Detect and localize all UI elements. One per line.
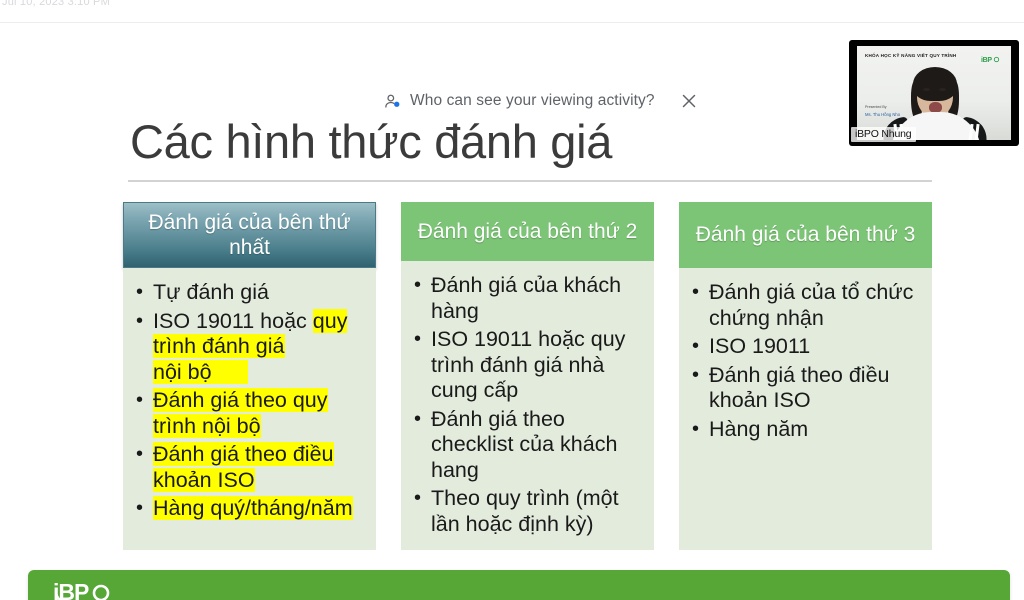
person-add-icon bbox=[384, 93, 401, 110]
viewing-activity-label: Who can see your viewing activity? bbox=[410, 92, 655, 110]
bullet-text: Đánh giá của khách hàng bbox=[431, 273, 621, 323]
presenter-hair bbox=[913, 67, 957, 101]
column-body-second-party: Đánh giá của khách hàng ISO 19011 hoặc q… bbox=[401, 261, 654, 550]
bullet-text: Tự đánh giá bbox=[153, 280, 269, 304]
bullet-text-highlight: Hàng quý/tháng/năm bbox=[153, 496, 353, 520]
video-frame: KHÓA HỌC KỸ NĂNG VIẾT QUY TRÌNH iBP Pres… bbox=[857, 46, 1011, 140]
bullet-list-third-party: Đánh giá của tổ chức chứng nhận ISO 1901… bbox=[689, 280, 928, 442]
bullet-text: Đánh giá của tổ chức chứng nhận bbox=[709, 280, 913, 330]
bullet-text-plain: ISO 19011 hoặc bbox=[153, 309, 313, 333]
top-status-strip: Jul 10, 2023 3:10 PM bbox=[0, 0, 1024, 22]
screen-root: Jul 10, 2023 3:10 PM Who can see your vi… bbox=[0, 0, 1024, 600]
column-first-party: Đánh giá của bên thứ nhất Tự đánh giá IS… bbox=[123, 202, 376, 550]
bullet-text: Đánh giá theo điều khoản ISO bbox=[709, 363, 890, 413]
pip-ibpo-logo-icon: iBP bbox=[981, 51, 1003, 60]
list-item: ISO 19011 hoặc quy trình đánh giánội bộ bbox=[133, 309, 372, 386]
bullet-list-second-party: Đánh giá của khách hàng ISO 19011 hoặc q… bbox=[411, 273, 650, 537]
list-item: Hàng năm bbox=[689, 417, 928, 443]
bullet-text: Đánh giá theo checklist của khách hang bbox=[431, 407, 617, 482]
bullet-text: ISO 19011 bbox=[709, 334, 810, 358]
viewing-activity-notice: Who can see your viewing activity? bbox=[384, 89, 698, 113]
video-thumbnail[interactable]: KHÓA HỌC KỸ NĂNG VIẾT QUY TRÌNH iBP Pres… bbox=[849, 40, 1019, 146]
pip-presenter-name: Ms. Thu Hồng Nho bbox=[865, 112, 900, 117]
top-strip-timestamp: Jul 10, 2023 3:10 PM bbox=[2, 0, 110, 7]
bullet-list-first-party: Tự đánh giá ISO 19011 hoặc quy trình đán… bbox=[133, 280, 372, 522]
bullet-text: Theo quy trình (một lần hoặc định kỳ) bbox=[431, 486, 619, 536]
pip-presented-by-label: Presented By bbox=[865, 105, 887, 109]
slide-footer-bar: iBP bbox=[28, 570, 1010, 600]
close-icon[interactable] bbox=[680, 92, 698, 110]
column-body-first-party: Tự đánh giá ISO 19011 hoặc quy trình đán… bbox=[123, 268, 376, 550]
list-item: Đánh giá theo điều khoản ISO bbox=[133, 442, 372, 493]
column-body-third-party: Đánh giá của tổ chức chứng nhận ISO 1901… bbox=[679, 268, 932, 550]
participant-name-label: iBPO Nhung bbox=[851, 127, 916, 142]
list-item: Hàng quý/tháng/năm bbox=[133, 496, 372, 522]
bullet-text: ISO 19011 hoặc quy trình đánh giá nhà cu… bbox=[431, 327, 625, 402]
svg-text:iBP: iBP bbox=[981, 57, 992, 64]
list-item: Đánh giá theo quy trình nội bộ bbox=[133, 388, 372, 439]
presenter-eye-right bbox=[939, 88, 946, 91]
list-item: Đánh giá theo checklist của khách hang bbox=[411, 407, 650, 484]
presenter-eye-left bbox=[923, 88, 930, 91]
list-item: Đánh giá của khách hàng bbox=[411, 273, 650, 324]
list-item: ISO 19011 hoặc quy trình đánh giá nhà cu… bbox=[411, 327, 650, 404]
bullet-text-highlight: Đánh giá theo điều khoản ISO bbox=[153, 442, 334, 492]
bullet-text: Hàng năm bbox=[709, 417, 808, 441]
list-item: Đánh giá của tổ chức chứng nhận bbox=[689, 280, 928, 331]
list-item: Đánh giá theo điều khoản ISO bbox=[689, 363, 928, 414]
column-header-third-party: Đánh giá của bên thứ 3 bbox=[679, 202, 932, 268]
column-second-party: Đánh giá của bên thứ 2 Đánh giá của khác… bbox=[401, 202, 654, 550]
column-header-second-party: Đánh giá của bên thứ 2 bbox=[401, 202, 654, 261]
page-title: Các hình thức đánh giá bbox=[130, 116, 612, 168]
column-header-first-party: Đánh giá của bên thứ nhất bbox=[123, 202, 376, 268]
list-item: Theo quy trình (một lần hoặc định kỳ) bbox=[411, 486, 650, 537]
pip-slide-title: KHÓA HỌC KỸ NĂNG VIẾT QUY TRÌNH bbox=[865, 53, 956, 58]
bullet-text-highlight: nội bộ bbox=[153, 360, 248, 384]
column-third-party: Đánh giá của bên thứ 3 Đánh giá của tổ c… bbox=[679, 202, 932, 550]
list-item: ISO 19011 bbox=[689, 334, 928, 360]
ibpo-logo: iBP bbox=[53, 578, 139, 600]
list-item: Tự đánh giá bbox=[133, 280, 372, 306]
comparison-columns: Đánh giá của bên thứ nhất Tự đánh giá IS… bbox=[123, 202, 935, 550]
title-underline bbox=[128, 180, 932, 182]
bullet-text-highlight: Đánh giá theo quy trình nội bộ bbox=[153, 388, 328, 438]
